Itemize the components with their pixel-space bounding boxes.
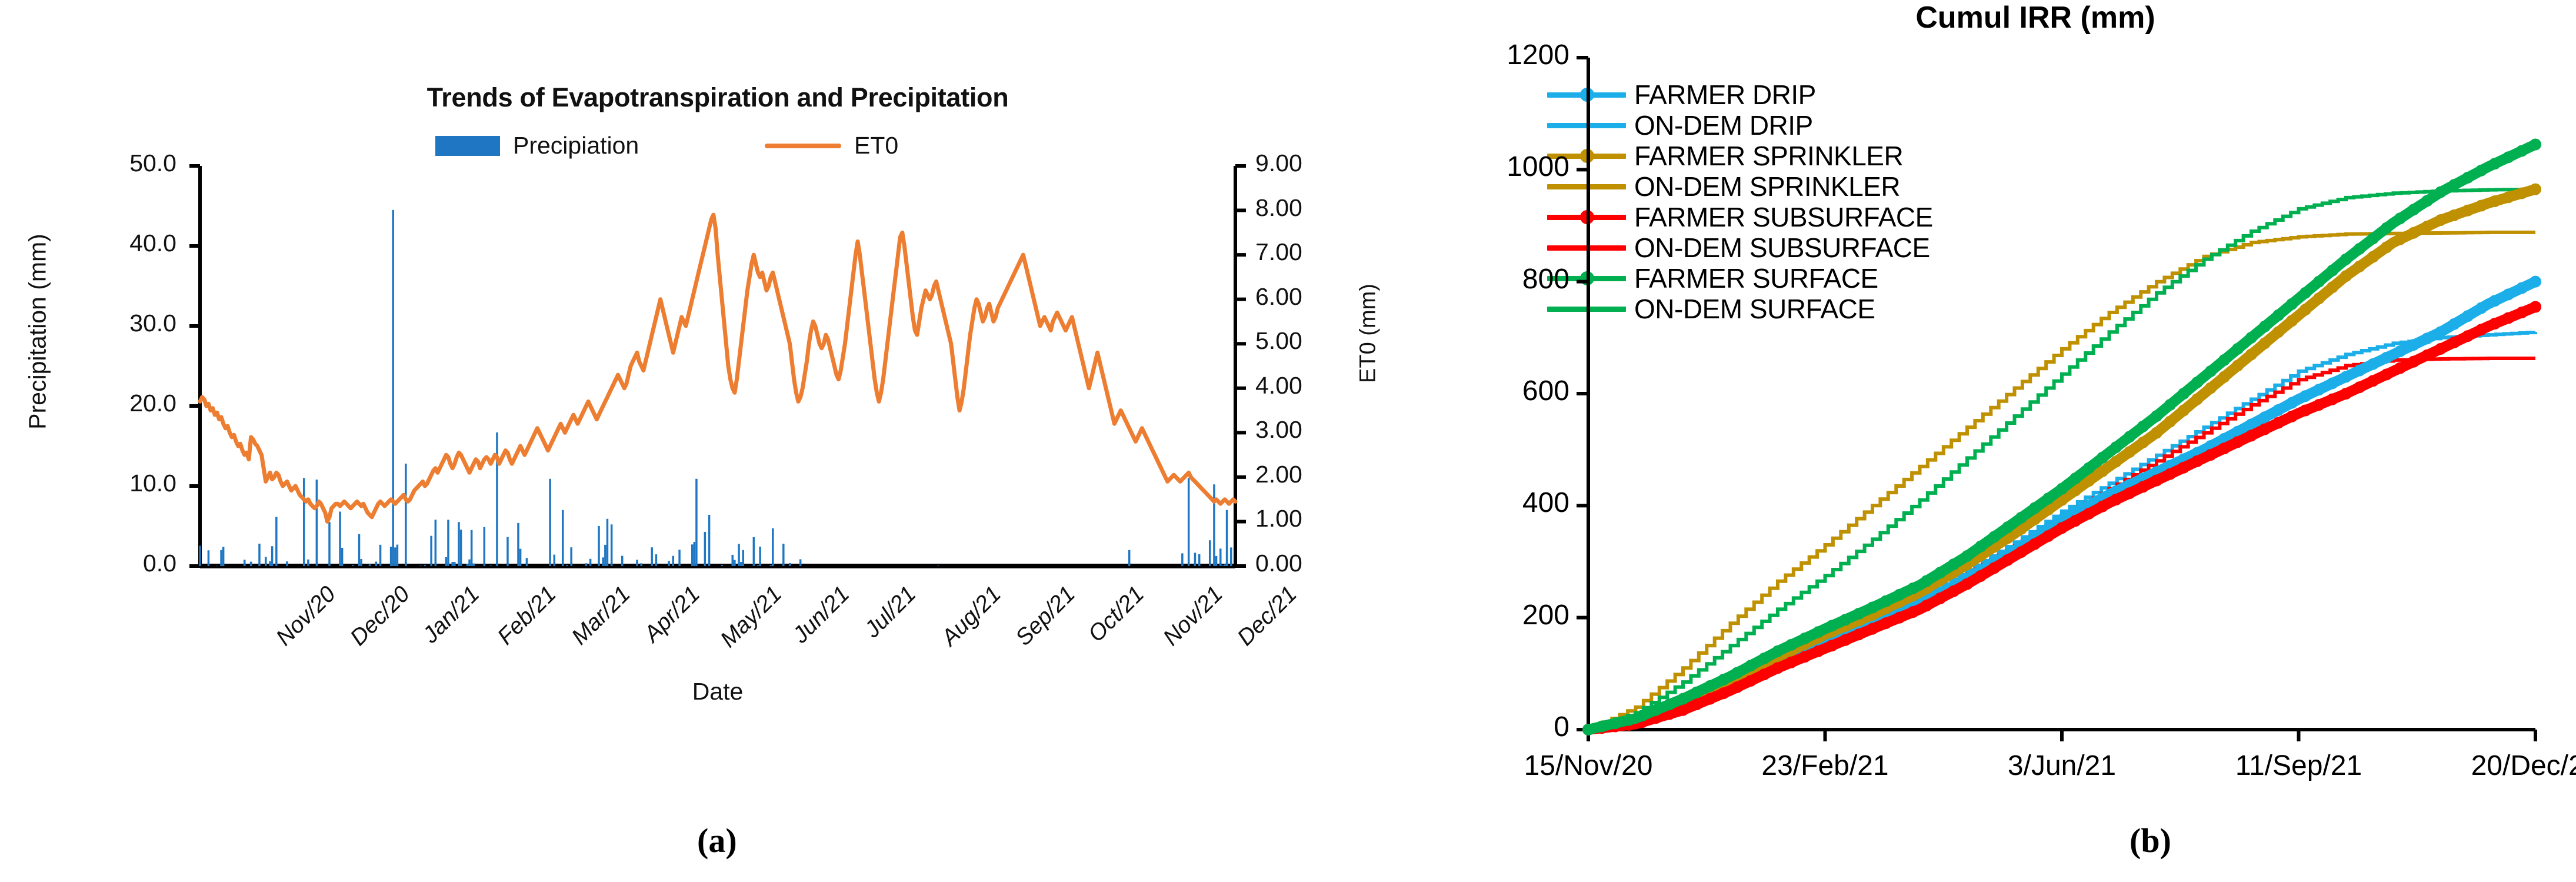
series-marker: [1961, 578, 1973, 590]
series-line-on-dem-surface: [1588, 189, 2535, 730]
panel-a-evapotranspiration-precipitation: Trends of Evapotranspiration and Precipi…: [0, 0, 1435, 882]
series-marker: [2448, 209, 2460, 221]
series-marker: [2218, 371, 2230, 382]
series-marker: [1921, 575, 1932, 587]
series-marker: [2218, 442, 2230, 454]
precipitation-bar: [1209, 540, 1211, 566]
series-marker: [2475, 165, 2487, 177]
precipitation-bar: [424, 565, 426, 566]
series-marker: [2286, 397, 2298, 409]
series-marker: [2340, 371, 2352, 382]
series-marker: [2286, 298, 2298, 310]
series-marker: [2489, 195, 2501, 207]
series-marker: [2272, 404, 2284, 416]
series-marker: [2164, 468, 2176, 480]
series-marker: [1704, 693, 1716, 705]
precipitation-bar: [799, 559, 802, 566]
precipitation-bar: [691, 544, 694, 566]
series-marker: [2083, 508, 2095, 520]
series-marker: [2313, 399, 2325, 411]
series-marker: [2259, 423, 2271, 435]
series-marker: [2516, 187, 2528, 199]
series-marker: [2029, 502, 2041, 514]
series-marker: [1907, 583, 1919, 594]
precipitation-bar: [1194, 553, 1197, 566]
series-marker: [2124, 431, 2135, 442]
series-marker: [2354, 261, 2365, 272]
series-marker: [2070, 515, 2081, 527]
series-marker: [1853, 608, 1865, 620]
series-marker: [2381, 222, 2392, 234]
series-marker: [2448, 337, 2460, 348]
series-marker: [1745, 660, 1757, 671]
precipitation-bar: [199, 545, 201, 566]
precipitation-bar: [738, 544, 740, 566]
series-marker: [2516, 145, 2528, 157]
et0-line: [200, 215, 1235, 521]
series-marker: [2462, 330, 2474, 342]
series-marker: [2435, 326, 2447, 338]
series-marker: [1839, 614, 1851, 625]
series-marker: [2475, 324, 2487, 335]
series-marker: [2042, 530, 2054, 542]
precipitation-bar: [458, 522, 460, 566]
series-marker: [2083, 462, 2095, 474]
precipitation-bar: [668, 561, 670, 566]
series-marker: [1664, 698, 1675, 710]
series-marker: [2489, 295, 2501, 307]
series-marker: [2394, 234, 2406, 245]
precipitation-bar: [358, 534, 361, 566]
series-marker: [2164, 416, 2176, 428]
precipitation-bar: [484, 527, 486, 566]
series-marker: [2178, 388, 2190, 400]
series-marker: [2191, 455, 2203, 467]
precipitation-bar: [1230, 547, 1232, 566]
series-marker: [2272, 326, 2284, 338]
precipitation-bar: [782, 544, 785, 566]
series-marker: [2381, 241, 2392, 253]
series-marker: [2259, 411, 2271, 423]
precipitation-bar: [1213, 484, 1215, 566]
series-marker: [2110, 494, 2122, 505]
series-marker: [2354, 243, 2365, 255]
series-marker: [1596, 721, 1608, 733]
series-marker: [2029, 538, 2041, 550]
precipitation-bar: [375, 561, 378, 566]
series-marker: [2530, 139, 2541, 151]
series-marker: [1988, 531, 2000, 542]
series-marker: [2205, 449, 2217, 461]
panel-b-cumul-irr: Cumul IRR (mm) FARMER DRIPON-DEM DRIPFAR…: [1435, 0, 2576, 882]
series-marker: [2056, 522, 2068, 534]
precipitation-bar: [471, 530, 473, 566]
precipitation-bar: [489, 565, 492, 566]
series-marker: [1812, 645, 1824, 657]
series-marker: [2435, 343, 2447, 355]
series-marker: [1785, 639, 1797, 651]
series-marker: [1826, 620, 1838, 632]
panel-b-caption: (b): [2130, 821, 2171, 860]
precipitation-bar: [651, 547, 653, 566]
precipitation-bar: [789, 563, 791, 566]
series-marker: [1582, 724, 1594, 735]
precipitation-bar: [655, 554, 658, 566]
series-marker: [2448, 179, 2460, 191]
precipitation-bar: [519, 549, 522, 566]
series-marker: [1609, 717, 1621, 729]
series-marker: [2462, 310, 2474, 322]
series-marker: [2435, 186, 2447, 198]
precipitation-bar: [734, 560, 736, 566]
precipitation-bar: [208, 550, 210, 566]
series-marker: [2286, 315, 2298, 327]
precipitation-bar: [704, 532, 707, 566]
precipitation-bar: [772, 528, 774, 566]
precipitation-bar: [303, 478, 305, 566]
series-marker: [2042, 492, 2054, 504]
series-marker: [2327, 281, 2338, 293]
series-marker: [1907, 606, 1919, 618]
precipitation-bar: [405, 464, 407, 566]
series-marker: [2124, 446, 2135, 458]
series-marker: [2137, 481, 2149, 492]
series-marker: [2232, 343, 2244, 355]
series-marker: [2502, 191, 2514, 203]
precipitation-bar: [731, 555, 734, 566]
series-marker: [1758, 668, 1770, 680]
series-marker: [2178, 405, 2190, 417]
series-marker: [1921, 600, 1932, 611]
series-marker: [1758, 653, 1770, 664]
panel-a-caption: (a): [697, 821, 737, 860]
precipitation-bar: [496, 432, 498, 566]
precipitation-bar: [598, 526, 600, 566]
series-marker: [1677, 693, 1689, 705]
precipitation-bar: [1215, 556, 1218, 566]
series-marker: [2381, 368, 2392, 380]
precipitation-bar: [694, 542, 696, 566]
series-marker: [2408, 227, 2420, 239]
precipitation-bar: [562, 510, 564, 566]
series-marker: [1839, 634, 1851, 646]
series-marker: [2367, 251, 2379, 263]
series-marker: [2502, 312, 2514, 324]
precipitation-bar: [937, 565, 939, 566]
precipitation-bar: [258, 544, 261, 566]
precipitation-bar: [1219, 548, 1222, 566]
series-marker: [1650, 704, 1662, 716]
precipitation-bar: [740, 562, 742, 566]
series-marker: [1867, 623, 1878, 635]
series-marker: [1718, 687, 1729, 699]
precipitation-bar: [602, 557, 604, 566]
series-marker: [2070, 472, 2081, 484]
precipitation-bar: [445, 557, 448, 566]
precipitation-bar: [396, 545, 399, 566]
precipitation-bar: [451, 562, 454, 566]
series-marker: [1691, 687, 1702, 698]
series-marker: [1880, 595, 1892, 607]
series-marker: [2327, 394, 2338, 405]
series-marker: [1812, 626, 1824, 638]
series-marker: [2097, 452, 2108, 464]
series-marker: [1745, 675, 1757, 687]
precipitation-bar: [611, 524, 613, 566]
series-marker: [2354, 381, 2365, 393]
precipitation-bar: [468, 560, 471, 566]
series-marker: [1894, 589, 1905, 601]
series-marker: [2300, 405, 2311, 417]
precipitation-bar: [244, 560, 246, 566]
series-marker: [2367, 232, 2379, 244]
series-marker: [2272, 417, 2284, 429]
precipitation-bar: [379, 545, 382, 566]
precipitation-bar: [328, 522, 331, 566]
series-marker: [2191, 377, 2203, 388]
series-marker: [2137, 421, 2149, 432]
series-marker: [2408, 339, 2420, 351]
series-marker: [2151, 410, 2162, 422]
series-marker: [2245, 430, 2257, 441]
precipitation-bar: [1222, 565, 1224, 566]
series-marker: [2232, 436, 2244, 448]
series-marker: [2408, 356, 2420, 368]
series-marker: [1691, 698, 1702, 710]
series-marker: [2313, 276, 2325, 288]
figure-root: Trends of Evapotranspiration and Precipi…: [0, 0, 2576, 882]
series-marker: [2002, 521, 2014, 533]
series-marker: [2151, 475, 2162, 487]
precipitation-bar: [640, 563, 642, 566]
precipitation-bar: [454, 562, 456, 566]
series-marker: [2300, 390, 2311, 402]
series-marker: [2394, 345, 2406, 357]
series-marker: [1785, 657, 1797, 668]
precipitation-bar: [636, 560, 638, 566]
series-marker: [2448, 318, 2460, 330]
precipitation-bar: [606, 519, 609, 566]
precipitation-bar: [394, 547, 396, 566]
precipitation-bar: [1181, 553, 1184, 566]
precipitation-bar: [589, 559, 592, 566]
precipitation-bar: [472, 564, 475, 566]
series-marker: [2475, 200, 2487, 212]
series-marker: [2530, 276, 2541, 288]
precipitation-bar: [604, 545, 606, 566]
series-marker: [2340, 388, 2352, 400]
series-marker: [2421, 332, 2433, 344]
precipitation-bar: [506, 537, 509, 566]
precipitation-bar: [769, 565, 772, 566]
series-marker: [1948, 585, 1960, 597]
series-marker: [2327, 265, 2338, 277]
precipitation-bar: [271, 546, 274, 566]
series-marker: [2516, 307, 2528, 318]
panel-a-plot-area: [0, 0, 1435, 882]
series-marker: [2421, 350, 2433, 361]
series-marker: [2178, 462, 2190, 474]
series-marker: [1934, 567, 1946, 578]
series-marker: [2408, 204, 2420, 215]
precipitation-bar: [339, 512, 341, 566]
precipitation-bar: [447, 520, 449, 566]
precipitation-bar: [1224, 564, 1226, 566]
series-marker: [2530, 184, 2541, 195]
series-marker: [1880, 617, 1892, 629]
series-marker: [2097, 501, 2108, 512]
precipitation-bar: [753, 537, 755, 566]
series-marker: [2259, 337, 2271, 349]
precipitation-bar: [1188, 478, 1190, 566]
series-marker: [1799, 651, 1811, 663]
precipitation-bar: [585, 563, 588, 566]
precipitation-bar: [360, 559, 362, 566]
series-marker: [2462, 172, 2474, 184]
precipitation-bar: [757, 565, 759, 566]
series-marker: [2286, 411, 2298, 422]
series-marker: [1826, 640, 1838, 651]
series-marker: [2124, 487, 2135, 499]
series-marker: [1623, 714, 1635, 726]
series-marker: [2502, 288, 2514, 300]
series-marker: [1704, 680, 1716, 692]
series-marker: [2475, 302, 2487, 314]
series-marker: [2300, 287, 2311, 299]
precipitation-bar: [759, 547, 761, 566]
series-marker: [1894, 612, 1905, 624]
series-marker: [1867, 602, 1878, 614]
series-marker: [2191, 394, 2203, 405]
precipitation-bar: [621, 556, 624, 566]
series-marker: [2205, 365, 2217, 377]
series-marker: [2313, 384, 2325, 395]
precipitation-bar: [269, 561, 271, 566]
precipitation-bar: [1198, 554, 1201, 566]
series-marker: [2421, 221, 2433, 232]
precipitation-bar: [554, 555, 556, 566]
series-marker: [2151, 427, 2162, 439]
precipitation-bar: [352, 565, 354, 566]
precipitation-bar: [286, 561, 288, 566]
series-marker: [1961, 550, 1973, 562]
series-marker: [2218, 354, 2230, 366]
series-marker: [2137, 437, 2149, 448]
series-marker: [1637, 710, 1648, 721]
series-line-on-dem-sprinkler: [1588, 232, 2535, 730]
precipitation-bar: [390, 547, 392, 566]
precipitation-bar: [466, 564, 469, 566]
series-marker: [2489, 318, 2501, 329]
series-marker: [2421, 195, 2433, 207]
precipitation-bar: [570, 547, 572, 566]
precipitation-bar: [460, 530, 462, 566]
series-marker: [1772, 662, 1784, 674]
series-marker: [1772, 645, 1784, 657]
precipitation-bar: [549, 479, 551, 566]
series-marker: [2462, 205, 2474, 217]
series-marker: [1731, 667, 1743, 678]
precipitation-bar: [526, 558, 528, 566]
precipitation-bar: [435, 520, 437, 566]
series-marker: [2394, 212, 2406, 224]
precipitation-bar: [517, 523, 519, 566]
series-marker: [2502, 151, 2514, 163]
series-marker: [2313, 292, 2325, 304]
series-marker: [2259, 321, 2271, 332]
precipitation-bar: [220, 550, 222, 566]
series-marker: [2110, 456, 2122, 468]
series-marker: [1948, 558, 1960, 570]
series-marker: [2435, 214, 2447, 226]
series-marker: [1988, 562, 2000, 574]
precipitation-bar: [678, 550, 681, 566]
series-marker: [2381, 352, 2392, 364]
precipitation-bar: [430, 536, 432, 566]
series-marker: [1975, 570, 1987, 582]
precipitation-bar: [369, 564, 371, 566]
precipitation-bar: [316, 480, 318, 566]
panel-b-plot-area: [1435, 0, 2576, 882]
precipitation-bar: [672, 556, 675, 566]
series-marker: [2530, 301, 2541, 312]
precipitation-bar: [566, 565, 568, 566]
precipitation-bar: [1128, 550, 1131, 566]
series-marker: [2164, 399, 2176, 411]
series-marker: [2245, 332, 2257, 344]
series-marker: [1799, 633, 1811, 644]
series-marker: [2367, 358, 2379, 370]
precipitation-bar: [341, 548, 344, 566]
series-marker: [2367, 375, 2379, 387]
precipitation-bar: [1226, 510, 1228, 566]
series-marker: [2340, 254, 2352, 265]
series-marker: [1731, 681, 1743, 693]
series-marker: [2272, 309, 2284, 321]
precipitation-bar: [695, 479, 698, 566]
series-marker: [2516, 282, 2528, 294]
series-marker: [2110, 441, 2122, 453]
series-marker: [2015, 512, 2027, 524]
precipitation-bar: [307, 560, 309, 566]
precipitation-bar: [419, 565, 422, 566]
series-marker: [1975, 541, 1987, 553]
precipitation-bar: [708, 515, 711, 566]
series-marker: [2015, 546, 2027, 558]
series-marker: [2002, 554, 2014, 566]
series-marker: [2354, 365, 2365, 377]
series-marker: [2205, 382, 2217, 394]
series-marker: [1934, 593, 1946, 604]
precipitation-bar: [265, 557, 267, 566]
precipitation-bar: [275, 517, 278, 566]
series-marker: [2300, 304, 2311, 315]
series-marker: [2056, 483, 2068, 495]
series-marker: [2489, 158, 2501, 169]
series-marker: [1853, 628, 1865, 640]
series-marker: [2245, 348, 2257, 360]
precipitation-bar: [721, 565, 723, 566]
precipitation-bar: [250, 562, 252, 566]
precipitation-bar: [392, 210, 394, 566]
series-marker: [2394, 362, 2406, 374]
series-marker: [2232, 360, 2244, 371]
series-marker: [1718, 674, 1729, 685]
series-marker: [2340, 270, 2352, 282]
precipitation-bar: [222, 547, 225, 566]
precipitation-bar: [742, 550, 745, 566]
series-marker: [2327, 377, 2338, 389]
